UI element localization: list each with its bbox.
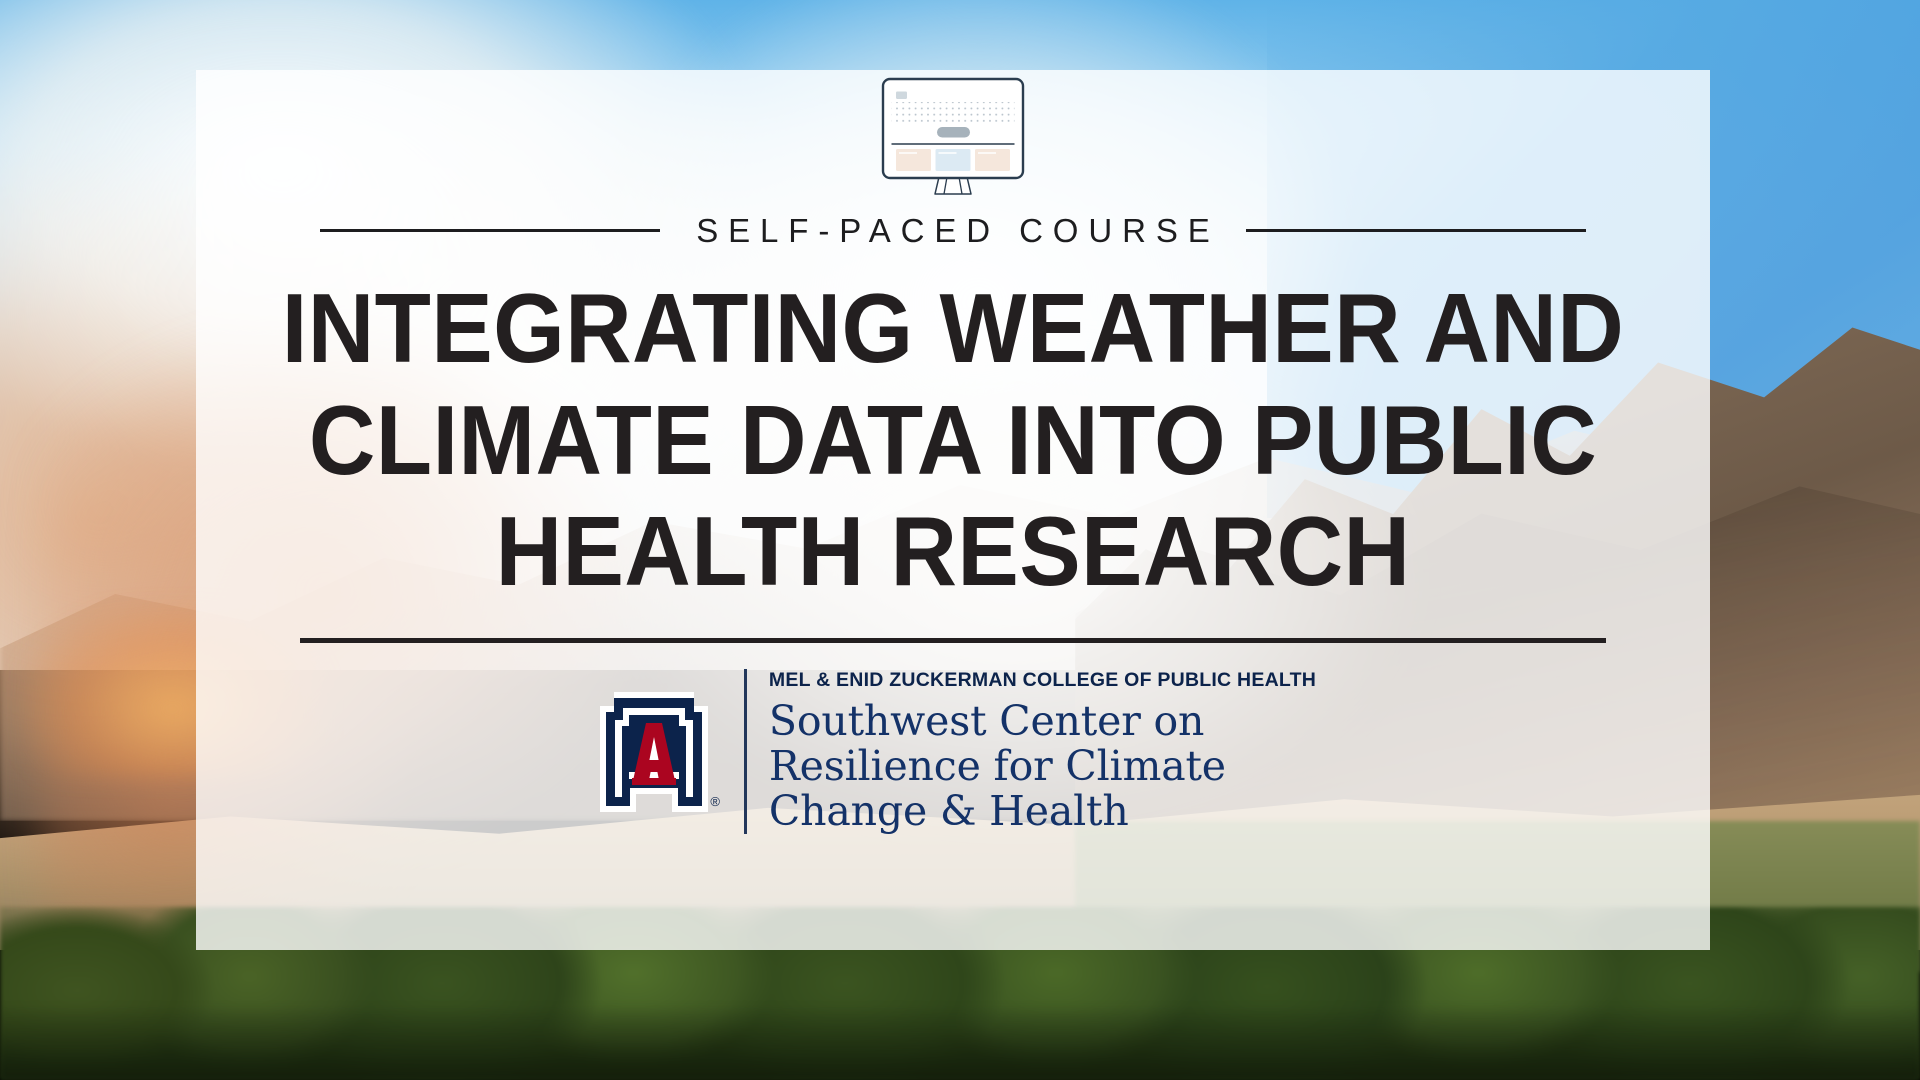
page-title: INTEGRATING WEATHER AND CLIMATE DATA INT…	[277, 273, 1629, 608]
center-name: Southwest Center on Resilience for Clima…	[769, 699, 1316, 834]
title-line-2: CLIMATE DATA INTO PUBLIC	[277, 385, 1629, 497]
eyebrow: SELF-PACED COURSE	[283, 214, 1623, 247]
title-divider-rule	[300, 638, 1606, 643]
center-name-line-3: Change & Health	[769, 789, 1316, 834]
center-name-line-2: Resilience for Climate	[769, 744, 1316, 789]
college-name: MEL & ENID ZUCKERMAN COLLEGE OF PUBLIC H…	[769, 669, 1316, 692]
promo-graphic: SELF-PACED COURSE INTEGRATING WEATHER AN…	[0, 0, 1920, 1080]
eyebrow-rule-left	[320, 229, 660, 232]
logo-text-block: MEL & ENID ZUCKERMAN COLLEGE OF PUBLIC H…	[769, 669, 1316, 834]
title-line-1: INTEGRATING WEATHER AND	[277, 273, 1629, 385]
university-logo-lockup: ® MEL & ENID ZUCKERMAN COLLEGE OF PUBLIC…	[590, 669, 1316, 834]
eyebrow-label: SELF-PACED COURSE	[686, 214, 1219, 247]
logo-vertical-divider	[744, 669, 747, 834]
tree-canopy-shadow	[0, 1004, 1920, 1080]
website-monitor-icon	[877, 76, 1029, 200]
registered-trademark-symbol: ®	[710, 795, 720, 808]
center-name-line-1: Southwest Center on	[769, 699, 1316, 744]
university-of-arizona-block-a-logo: ®	[590, 690, 718, 814]
title-line-3: HEALTH RESEARCH	[277, 496, 1629, 608]
content-panel: SELF-PACED COURSE INTEGRATING WEATHER AN…	[196, 70, 1710, 950]
eyebrow-rule-right	[1246, 229, 1586, 232]
